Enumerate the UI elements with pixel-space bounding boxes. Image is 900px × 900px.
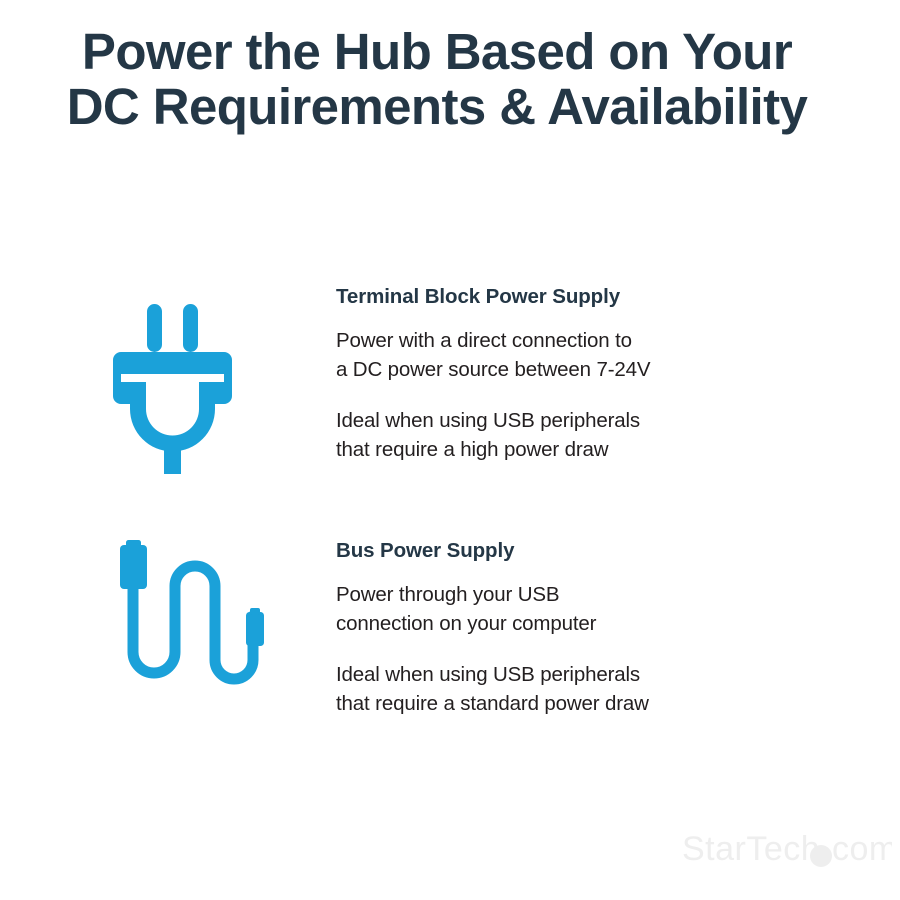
section-paragraph: Power with a direct connection to a DC p… [336,326,766,384]
power-plug-icon-wrap [100,284,310,484]
watermark-dot-icon [810,845,832,867]
usb-cable-icon-wrap [100,538,310,738]
terminal-block-text: Terminal Block Power Supply Power with a… [336,284,766,464]
section-paragraph: Power through your USB connection on you… [336,580,766,638]
feature-section-terminal-block: Terminal Block Power Supply Power with a… [0,284,900,494]
section-heading: Bus Power Supply [336,538,766,563]
infographic-page: Power the Hub Based on Your DC Requireme… [0,0,900,900]
startech-watermark: StarTech com [682,826,892,872]
section-heading: Terminal Block Power Supply [336,284,766,309]
section-paragraph: Ideal when using USB peripherals that re… [336,660,766,718]
section-paragraph: Ideal when using USB peripherals that re… [336,406,766,464]
usb-cable-icon [100,538,310,738]
page-title: Power the Hub Based on Your DC Requireme… [26,24,874,134]
page-title-line-2: DC Requirements & Availability [26,79,874,134]
power-plug-icon [100,284,310,484]
watermark-text-before-dot: StarTech [682,830,820,868]
bus-power-text: Bus Power Supply Power through your USB … [336,538,766,718]
watermark-text-after-dot: com [832,830,892,868]
page-title-line-1: Power the Hub Based on Your [26,24,874,79]
feature-section-bus-power: Bus Power Supply Power through your USB … [0,538,900,748]
